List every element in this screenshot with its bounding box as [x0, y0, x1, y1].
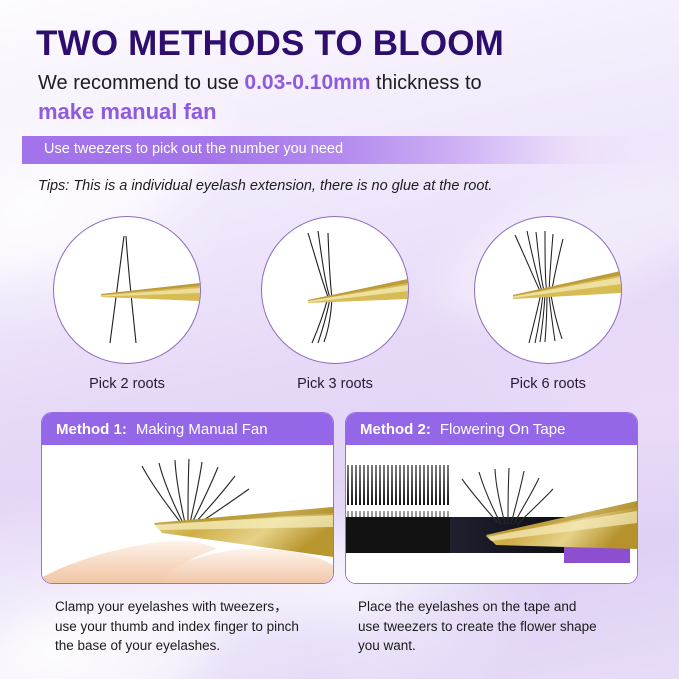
pick-step-caption: Pick 6 roots — [466, 376, 630, 392]
method-1-name: Making Manual Fan — [136, 421, 268, 438]
recommendation-prefix: We recommend to use — [38, 72, 244, 94]
instruction-banner: Use tweezers to pick out the number you … — [22, 136, 636, 164]
method-2-panel: Method 2: Flowering On Tape — [345, 412, 638, 584]
pick-step-3-roots: Pick 3 roots — [253, 216, 417, 392]
tweezers-picking-6-lashes-image — [474, 216, 622, 364]
thickness-value: 0.03-0.10mm — [244, 71, 370, 94]
method-2-caption-line: Place the eyelashes on the tape and — [358, 597, 648, 617]
promo-infographic: TWO METHODS TO BLOOM We recommend to use… — [0, 0, 679, 679]
pick-step-2-roots: Pick 2 roots — [45, 216, 209, 392]
pick-step-6-roots: Pick 6 roots — [466, 216, 630, 392]
method-2-header: Method 2: Flowering On Tape — [346, 413, 637, 445]
tweezer-tip — [513, 271, 621, 299]
method-1-caption: Clamp your eyelashes with tweezers， use … — [55, 597, 345, 656]
tweezers-picking-2-lashes-image — [53, 216, 201, 364]
method-2-image — [346, 445, 637, 583]
instruction-banner-text: Use tweezers to pick out the number you … — [44, 141, 343, 157]
recommendation-suffix: thickness to — [370, 72, 481, 94]
pick-roots-row: Pick 2 roots Pick 3 root — [0, 216, 679, 396]
method-2-caption: Place the eyelashes on the tape and use … — [358, 597, 648, 656]
pick-step-caption: Pick 2 roots — [45, 376, 209, 392]
recommendation-line: We recommend to use 0.03-0.10mm thicknes… — [38, 71, 482, 95]
pick-step-caption: Pick 3 roots — [253, 376, 417, 392]
method-1-label: Method 1: — [56, 421, 127, 438]
method-1-panel: Method 1: Making Manual Fan — [41, 412, 334, 584]
method-1-caption-line: Clamp your eyelashes with tweezers， — [55, 597, 345, 617]
method-2-label: Method 2: — [360, 421, 431, 438]
tweezers-picking-3-lashes-image — [261, 216, 409, 364]
recommendation-line2: make manual fan — [38, 99, 217, 125]
method-1-header: Method 1: Making Manual Fan — [42, 413, 333, 445]
method-2-caption-line: use tweezers to create the flower shape — [358, 617, 648, 637]
method-2-caption-line: you want. — [358, 636, 648, 656]
method-1-caption-line: use your thumb and index finger to pinch — [55, 617, 345, 637]
tips-note: Tips: This is a individual eyelash exten… — [38, 178, 492, 194]
page-title: TWO METHODS TO BLOOM — [36, 24, 504, 64]
method-2-name: Flowering On Tape — [440, 421, 566, 438]
method-1-image — [42, 445, 333, 583]
method-1-caption-line: the base of your eyelashes. — [55, 636, 345, 656]
